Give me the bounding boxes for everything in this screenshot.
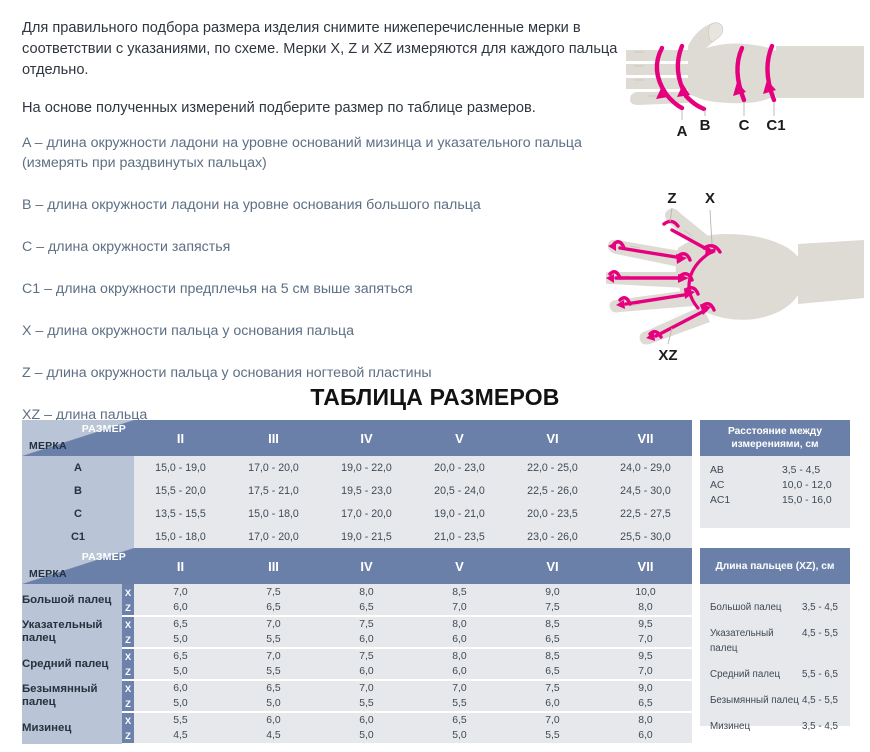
table-cell: 20,0 - 23,5 xyxy=(506,502,599,525)
table-cell: 6,5 xyxy=(599,696,692,712)
table-row: Z 5,0 5,0 5,5 5,5 6,0 6,5 xyxy=(22,696,692,712)
size-header-iv: IV xyxy=(320,548,413,584)
table-cell: 22,5 - 27,5 xyxy=(599,502,692,525)
table-cell: 7,0 xyxy=(599,664,692,680)
table-cell: 15,0 - 19,0 xyxy=(134,456,227,479)
finger-length-key: Мизинец xyxy=(710,719,802,734)
intro-text-block: Для правильного подбора размера изделия … xyxy=(22,18,622,136)
table-cell: 6,0 xyxy=(227,712,320,728)
table-cell: 5,5 xyxy=(320,696,413,712)
distance-value: 10,0 - 12,0 xyxy=(782,478,832,493)
table-row: C 13,5 - 15,5 15,0 - 18,0 17,0 - 20,0 19… xyxy=(22,502,692,525)
table-cell: 9,5 xyxy=(599,616,692,632)
size-header-vi: VI xyxy=(506,548,599,584)
table-cell: 5,0 xyxy=(413,728,506,744)
finger-row-label: Указательный палец xyxy=(22,616,122,648)
size-header-vi: VI xyxy=(506,420,599,456)
corner-row-label: МЕРКА xyxy=(29,440,67,452)
table-row: Z 5,0 5,5 6,0 6,0 6,5 7,0 xyxy=(22,632,692,648)
size-header-ii: II xyxy=(134,420,227,456)
table-row: Большой палец X 7,0 7,5 8,0 8,5 9,0 10,0 xyxy=(22,584,692,600)
distances-table-header: Расстояние между измерениями, см xyxy=(700,420,850,456)
table-cell: 7,5 xyxy=(506,600,599,616)
finger-length-value: 5,5 - 6,5 xyxy=(802,667,838,682)
table-cell: 19,0 - 21,0 xyxy=(413,502,506,525)
distance-value: 15,0 - 16,0 xyxy=(782,493,832,508)
table-cell: 8,0 xyxy=(599,600,692,616)
finger-measure-key-x: X xyxy=(122,584,134,600)
table-row: Мизинец X 5,5 6,0 6,0 6,5 7,0 8,0 xyxy=(22,712,692,728)
finger-measure-key-z: Z xyxy=(122,728,134,744)
table-cell: 10,0 xyxy=(599,584,692,600)
finger-row-label: Средний палец xyxy=(22,648,122,680)
table-cell: 5,5 xyxy=(227,632,320,648)
finger-length-row: Мизинец 3,5 - 4,5 xyxy=(710,719,840,734)
table-row: Z 6,0 6,5 6,5 7,0 7,5 8,0 xyxy=(22,600,692,616)
table-cell: 20,0 - 23,0 xyxy=(413,456,506,479)
table-cell: 6,0 xyxy=(413,664,506,680)
table-cell: 6,0 xyxy=(134,600,227,616)
table-cell: 5,5 xyxy=(506,728,599,744)
table-cell: 15,5 - 20,0 xyxy=(134,479,227,502)
table-cell: 8,0 xyxy=(413,616,506,632)
table-cell: 9,0 xyxy=(599,680,692,696)
finger-length-value: 3,5 - 4,5 xyxy=(802,719,838,734)
table-cell: 5,0 xyxy=(134,664,227,680)
hand-spread-svg: Z X XZ xyxy=(606,186,864,366)
size-header-vii: VII xyxy=(599,420,692,456)
table-cell: 19,5 - 23,0 xyxy=(320,479,413,502)
finger-length-row: Большой палец 3,5 - 4,5 xyxy=(710,600,840,615)
table-cell: 5,0 xyxy=(134,696,227,712)
table-cell: 7,0 xyxy=(227,616,320,632)
finger-measure-key-x: X xyxy=(122,616,134,632)
table-cell: 4,5 xyxy=(227,728,320,744)
table-cell: 25,5 - 30,0 xyxy=(599,525,692,548)
table-cell: 6,5 xyxy=(227,600,320,616)
table-cell: 5,0 xyxy=(320,728,413,744)
diagram-label-z: Z xyxy=(667,190,676,207)
distance-key: AC xyxy=(710,478,782,493)
table-row: B 15,5 - 20,0 17,5 - 21,0 19,5 - 23,0 20… xyxy=(22,479,692,502)
finger-lengths-table-body: Большой палец 3,5 - 4,5 Указательный пал… xyxy=(700,584,850,734)
table-cell: 17,5 - 21,0 xyxy=(227,479,320,502)
measurement-row-label: C xyxy=(22,502,134,525)
finger-measure-key-x: X xyxy=(122,680,134,696)
table-cell: 15,0 - 18,0 xyxy=(134,525,227,548)
corner-header-cell: МЕРКА РАЗМЕР xyxy=(22,420,134,456)
corner-column-label: РАЗМЕР xyxy=(82,551,126,563)
hand-side-view-svg: A B C C1 xyxy=(626,8,864,148)
table-cell: 7,0 xyxy=(599,632,692,648)
corner-column-label: РАЗМЕР xyxy=(82,423,126,435)
diagram-label-c: C xyxy=(739,117,750,134)
diagram-label-xz: XZ xyxy=(658,347,677,364)
finger-measure-key-x: X xyxy=(122,712,134,728)
table-cell: 19,0 - 22,0 xyxy=(320,456,413,479)
table-cell: 6,5 xyxy=(506,664,599,680)
finger-row-label: Безымянный палец xyxy=(22,680,122,712)
table-cell: 21,0 - 23,5 xyxy=(413,525,506,548)
diagram-label-b: B xyxy=(700,117,711,134)
table-cell: 5,5 xyxy=(413,696,506,712)
diagram-label-c1: C1 xyxy=(766,117,785,134)
finger-length-row: Указательный палец 4,5 - 5,5 xyxy=(710,626,840,656)
table-cell: 6,0 xyxy=(506,696,599,712)
corner-header-cell: МЕРКА РАЗМЕР xyxy=(22,548,134,584)
size-header-v: V xyxy=(413,548,506,584)
diagram-label-x: X xyxy=(705,190,715,207)
table-cell: 6,0 xyxy=(599,728,692,744)
corner-row-label: МЕРКА xyxy=(29,568,67,580)
measurements-size-table: МЕРКА РАЗМЕР II III IV V VI VII A 15,0 -… xyxy=(22,420,692,548)
finger-length-value: 4,5 - 5,5 xyxy=(802,693,838,708)
table-cell: 6,0 xyxy=(320,664,413,680)
finger-length-key: Средний палец xyxy=(710,667,802,682)
table-cell: 23,0 - 26,0 xyxy=(506,525,599,548)
measurement-row-label: C1 xyxy=(22,525,134,548)
intro-paragraph-2: На основе полученных измерений подберите… xyxy=(22,98,622,119)
table-cell: 19,0 - 21,5 xyxy=(320,525,413,548)
finger-length-key: Безымянный палец xyxy=(710,693,802,708)
table-cell: 5,0 xyxy=(227,696,320,712)
table-row: Указательный палец X 6,5 7,0 7,5 8,0 8,5… xyxy=(22,616,692,632)
table-cell: 22,5 - 26,0 xyxy=(506,479,599,502)
finger-lengths-side-table: Длина пальцев (XZ), см Большой палец 3,5… xyxy=(700,548,850,726)
definition-item-a: A – длина окружности ладони на уровне ос… xyxy=(22,133,632,173)
table-cell: 6,5 xyxy=(227,680,320,696)
table-cell: 22,0 - 25,0 xyxy=(506,456,599,479)
page-title: ТАБЛИЦА РАЗМЕРОВ xyxy=(0,384,870,411)
table-cell: 6,0 xyxy=(134,680,227,696)
table-cell: 7,0 xyxy=(134,584,227,600)
table-cell: 7,0 xyxy=(320,680,413,696)
finger-measure-key-z: Z xyxy=(122,632,134,648)
table-cell: 6,5 xyxy=(320,600,413,616)
table-cell: 8,0 xyxy=(413,648,506,664)
table-cell: 7,5 xyxy=(227,584,320,600)
table-cell: 7,5 xyxy=(320,648,413,664)
table-cell: 17,0 - 20,0 xyxy=(227,456,320,479)
size-header-vii: VII xyxy=(599,548,692,584)
table-cell: 24,5 - 30,0 xyxy=(599,479,692,502)
size-header-ii: II xyxy=(134,548,227,584)
finger-length-key: Большой палец xyxy=(710,600,802,615)
hand-side-view-circumference-diagram: A B C C1 xyxy=(626,8,864,148)
table-row: A 15,0 - 19,0 17,0 - 20,0 19,0 - 22,0 20… xyxy=(22,456,692,479)
table-cell: 6,5 xyxy=(413,712,506,728)
table-cell: 13,5 - 15,5 xyxy=(134,502,227,525)
table-cell: 17,0 - 20,0 xyxy=(320,502,413,525)
hand-spread-fingers-diagram: Z X XZ xyxy=(606,186,864,366)
measurement-row-label: A xyxy=(22,456,134,479)
distances-side-table: Расстояние между измерениями, см AB 3,5 … xyxy=(700,420,850,528)
distance-key: AB xyxy=(710,463,782,478)
table-cell: 8,0 xyxy=(599,712,692,728)
finger-length-key: Указательный палец xyxy=(710,626,802,656)
table-cell: 5,5 xyxy=(227,664,320,680)
table-cell: 6,0 xyxy=(413,632,506,648)
distance-value: 3,5 - 4,5 xyxy=(782,463,820,478)
table-cell: 6,5 xyxy=(506,632,599,648)
table-cell: 4,5 xyxy=(134,728,227,744)
measurement-row-label: B xyxy=(22,479,134,502)
table-header-row: МЕРКА РАЗМЕР II III IV V VI VII xyxy=(22,548,692,584)
table-row: Средний палец X 6,5 7,0 7,5 8,0 8,5 9,5 xyxy=(22,648,692,664)
finger-measure-key-z: Z xyxy=(122,696,134,712)
table-cell: 24,0 - 29,0 xyxy=(599,456,692,479)
size-header-iii: III xyxy=(227,420,320,456)
table-cell: 8,5 xyxy=(506,616,599,632)
table-row: Безымянный палец X 6,0 6,5 7,0 7,0 7,5 9… xyxy=(22,680,692,696)
definition-item-x: X – длина окружности пальца у основания … xyxy=(22,321,632,341)
table-cell: 7,0 xyxy=(506,712,599,728)
definition-item-c1: C1 – длина окружности предплечья на 5 см… xyxy=(22,279,632,299)
finger-row-label: Большой палец xyxy=(22,584,122,616)
finger-measure-key-z: Z xyxy=(122,664,134,680)
table-cell: 5,0 xyxy=(134,632,227,648)
definition-item-z: Z – длина окружности пальца у основания … xyxy=(22,363,632,383)
table-row: C1 15,0 - 18,0 17,0 - 20,0 19,0 - 21,5 2… xyxy=(22,525,692,548)
table-cell: 6,5 xyxy=(134,616,227,632)
finger-length-row: Безымянный палец 4,5 - 5,5 xyxy=(710,693,840,708)
table-cell: 8,5 xyxy=(506,648,599,664)
size-header-iv: IV xyxy=(320,420,413,456)
distance-row: AB 3,5 - 4,5 xyxy=(710,463,840,478)
finger-length-row: Средний палец 5,5 - 6,5 xyxy=(710,667,840,682)
table-cell: 7,0 xyxy=(227,648,320,664)
table-cell: 15,0 - 18,0 xyxy=(227,502,320,525)
table-cell: 6,0 xyxy=(320,632,413,648)
table-cell: 7,5 xyxy=(320,616,413,632)
table-cell: 7,5 xyxy=(506,680,599,696)
finger-measure-key-x: X xyxy=(122,648,134,664)
diagram-label-a: A xyxy=(677,123,688,140)
table-row: Z 4,5 4,5 5,0 5,0 5,5 6,0 xyxy=(22,728,692,744)
finger-lengths-table-header: Длина пальцев (XZ), см xyxy=(700,548,850,584)
finger-length-value: 3,5 - 4,5 xyxy=(802,600,838,615)
distances-table-body: AB 3,5 - 4,5 AC 10,0 - 12,0 AC1 15,0 - 1… xyxy=(700,456,850,508)
table-cell: 9,5 xyxy=(599,648,692,664)
distance-row: AC1 15,0 - 16,0 xyxy=(710,493,840,508)
size-header-v: V xyxy=(413,420,506,456)
table-cell: 7,0 xyxy=(413,680,506,696)
table-cell: 8,5 xyxy=(413,584,506,600)
size-header-iii: III xyxy=(227,548,320,584)
finger-length-value: 4,5 - 5,5 xyxy=(802,626,838,656)
table-cell: 7,0 xyxy=(413,600,506,616)
finger-measure-key-z: Z xyxy=(122,600,134,616)
distance-row: AC 10,0 - 12,0 xyxy=(710,478,840,493)
fingers-size-table: МЕРКА РАЗМЕР II III IV V VI VII Большой … xyxy=(22,548,692,745)
table-cell: 17,0 - 20,0 xyxy=(227,525,320,548)
table-cell: 9,0 xyxy=(506,584,599,600)
table-cell: 20,5 - 24,0 xyxy=(413,479,506,502)
table-cell: 8,0 xyxy=(320,584,413,600)
table-cell: 6,5 xyxy=(134,648,227,664)
definition-item-b: B – длина окружности ладони на уровне ос… xyxy=(22,195,632,215)
distance-key: AC1 xyxy=(710,493,782,508)
definition-item-c: C – длина окружности запястья xyxy=(22,237,632,257)
intro-paragraph-1: Для правильного подбора размера изделия … xyxy=(22,18,622,81)
table-row: Z 5,0 5,5 6,0 6,0 6,5 7,0 xyxy=(22,664,692,680)
table-cell: 6,0 xyxy=(320,712,413,728)
finger-row-label: Мизинец xyxy=(22,712,122,744)
table-cell: 5,5 xyxy=(134,712,227,728)
table-header-row: МЕРКА РАЗМЕР II III IV V VI VII xyxy=(22,420,692,456)
